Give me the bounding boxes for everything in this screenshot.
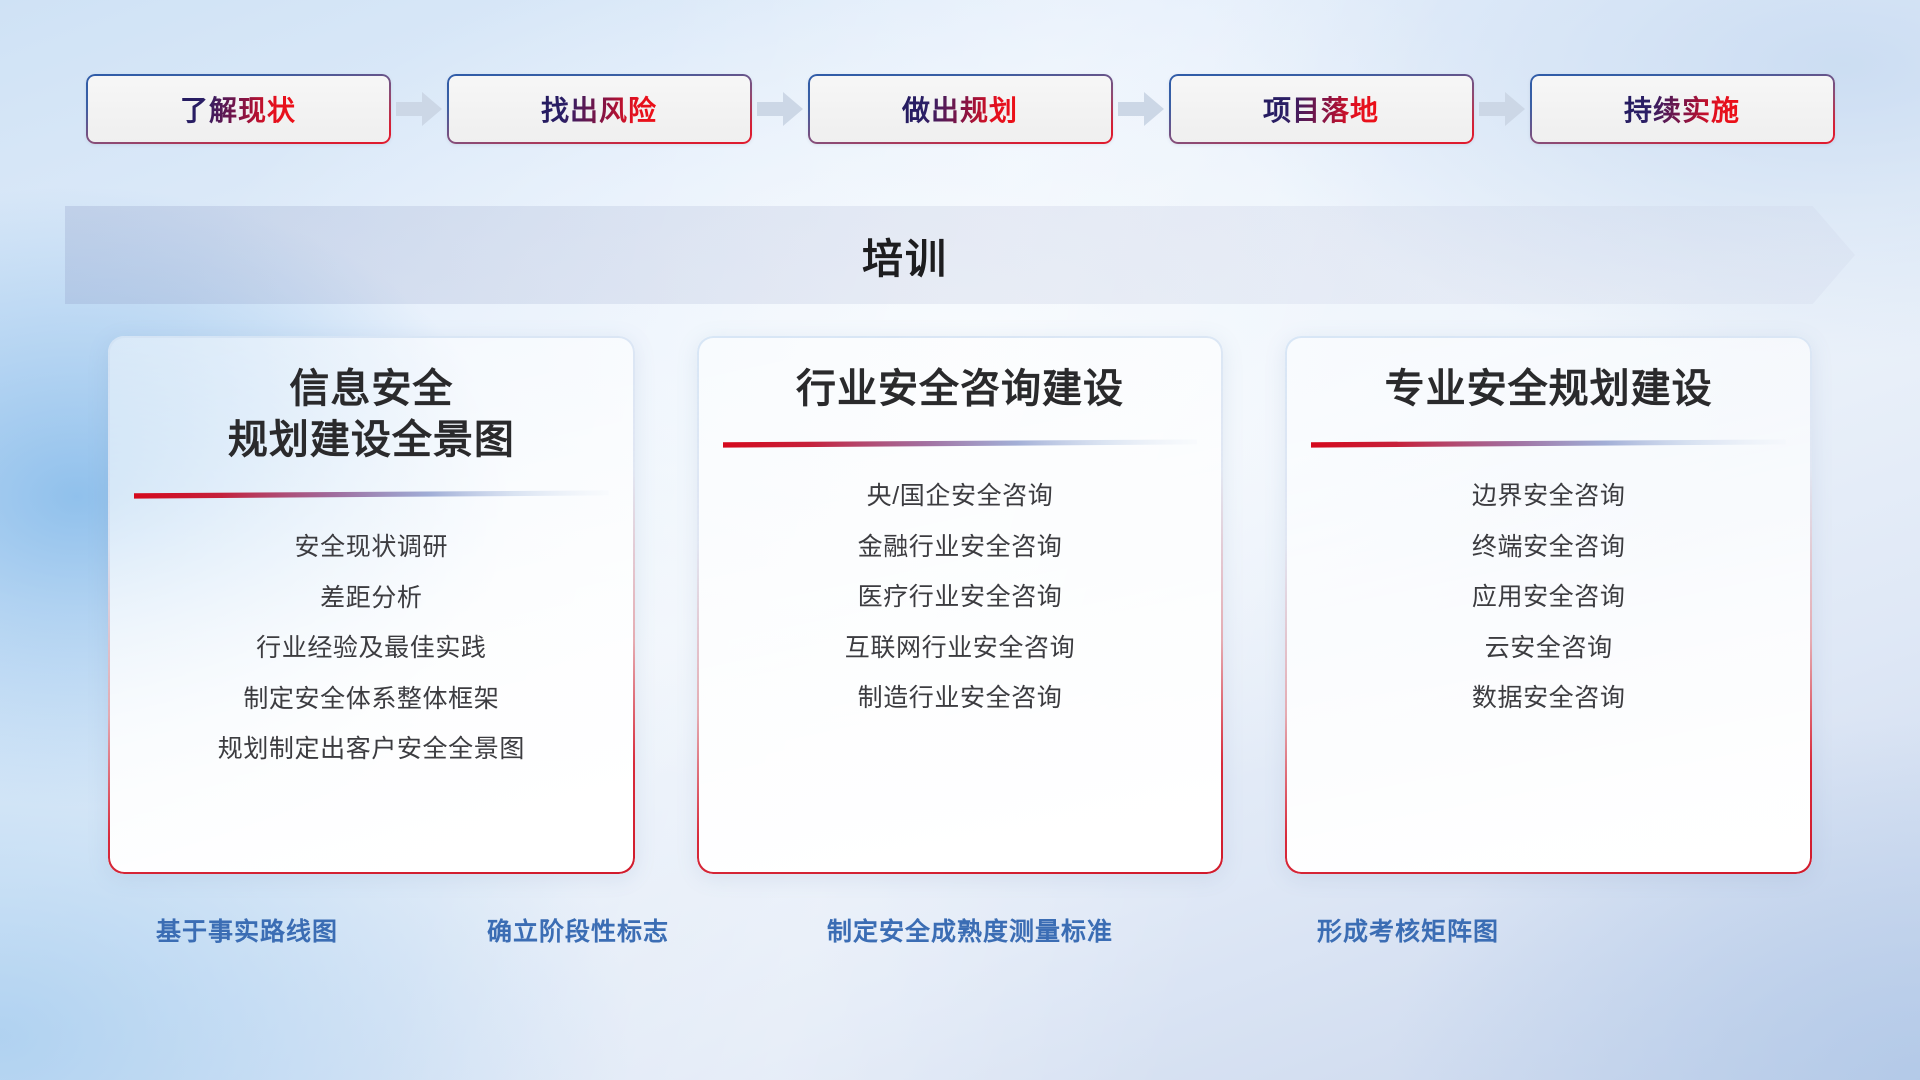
step-label: 项目落地	[1263, 89, 1379, 129]
card-list: 边界安全咨询 终端安全咨询 应用安全咨询 云安全咨询 数据安全咨询	[1311, 476, 1786, 719]
card-list: 安全现状调研 差距分析 行业经验及最佳实践 制定安全体系整体框架 规划制定出客户…	[134, 527, 609, 770]
step-box-1[interactable]: 了解现状	[86, 74, 391, 144]
list-item: 差距分析	[320, 578, 422, 619]
step-arrow-icon-4	[1474, 92, 1530, 126]
step-box-3[interactable]: 做出规划	[808, 74, 1113, 144]
training-banner: 培训	[65, 206, 1855, 304]
step-arrow-icon-1	[391, 92, 447, 126]
list-item: 数据安全咨询	[1472, 678, 1626, 719]
list-item: 安全现状调研	[295, 527, 449, 568]
step-arrow-icon-2	[752, 92, 808, 126]
list-item: 行业经验及最佳实践	[256, 628, 486, 669]
step-label: 做出规划	[902, 89, 1018, 129]
card-divider	[1311, 439, 1786, 448]
banner-title: 培训	[65, 206, 1855, 304]
card-title: 专业安全规划建设	[1385, 364, 1713, 415]
list-item: 边界安全咨询	[1472, 476, 1626, 517]
list-item: 央/国企安全咨询	[867, 476, 1054, 517]
list-item: 应用安全咨询	[1472, 577, 1626, 618]
list-item: 互联网行业安全咨询	[845, 628, 1075, 669]
step-arrow-icon-3	[1113, 92, 1169, 126]
step-box-2[interactable]: 找出风险	[447, 74, 752, 144]
card-title: 信息安全 规划建设全景图	[228, 364, 515, 466]
footer-label-2: 确立阶段性标志	[487, 912, 669, 948]
list-item: 终端安全咨询	[1472, 527, 1626, 568]
list-item: 云安全咨询	[1485, 628, 1613, 669]
card-title: 行业安全咨询建设	[796, 364, 1124, 415]
card-divider	[723, 439, 1198, 448]
list-item: 制造行业安全咨询	[858, 678, 1063, 719]
card-2[interactable]: 行业安全咨询建设	[697, 336, 1224, 874]
card-1[interactable]: 信息安全 规划建设全景图	[108, 336, 635, 874]
list-item: 制定安全体系整体框架	[243, 679, 499, 720]
step-label: 找出风险	[541, 89, 657, 129]
card-3[interactable]: 专业安全规划建设	[1285, 336, 1812, 874]
footer-caption-row: 基于事实路线图 确立阶段性标志 制定安全成熟度测量标准 形成考核矩阵图	[0, 912, 1920, 956]
card-row: 信息安全 规划建设全景图	[0, 336, 1920, 874]
list-item: 医疗行业安全咨询	[858, 577, 1063, 618]
process-step-row: 了解现状 找出风险 做出规划 项目落地 持续实施	[0, 74, 1920, 144]
step-box-5[interactable]: 持续实施	[1530, 74, 1835, 144]
step-label: 了解现状	[180, 89, 296, 129]
step-box-4[interactable]: 项目落地	[1169, 74, 1474, 144]
list-item: 金融行业安全咨询	[858, 527, 1063, 568]
footer-label-3: 制定安全成熟度测量标准	[827, 912, 1113, 948]
card-divider	[134, 490, 609, 499]
step-label: 持续实施	[1624, 89, 1740, 129]
footer-label-1: 基于事实路线图	[156, 912, 338, 948]
card-list: 央/国企安全咨询 金融行业安全咨询 医疗行业安全咨询 互联网行业安全咨询 制造行…	[723, 476, 1198, 719]
list-item: 规划制定出客户安全全景图	[218, 729, 525, 770]
footer-label-4: 形成考核矩阵图	[1317, 912, 1499, 948]
